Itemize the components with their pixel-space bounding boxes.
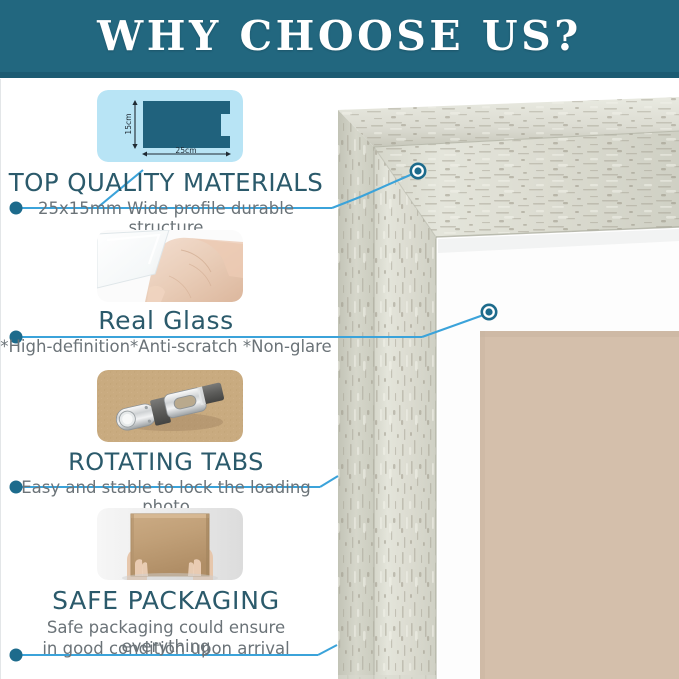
profile-width-label: 25cm (175, 146, 196, 155)
feature-title-2: Real Glass (0, 306, 332, 335)
hands-holding-box-thumbnail (97, 508, 243, 580)
hand-holding-glass-thumbnail (97, 230, 243, 302)
feature-safe-packaging: SAFE PACKAGING Safe packaging could ensu… (0, 508, 332, 653)
feature-top-quality-materials: 15cm 25cm TOP QUALITY MATERIALS 25x15mm … (0, 90, 332, 210)
feature-title-1: TOP QUALITY MATERIALS (0, 168, 332, 197)
feature-rotating-tabs: ROTATING TABS Easy and stable to lock th… (0, 370, 332, 485)
feature-real-glass: Real Glass *High-definition*Anti-scratch… (0, 230, 332, 340)
feature-subtitle-4-line2: in good condition upon arrival (0, 639, 332, 658)
page-title: WHY CHOOSE US? (0, 0, 679, 72)
infographic-page: WHY CHOOSE US? (0, 0, 679, 679)
profile-height-label: 15cm (124, 113, 133, 134)
product-frame-photo (330, 79, 679, 679)
feature-title-4: SAFE PACKAGING (0, 586, 332, 615)
header-banner-underline (0, 72, 679, 78)
metal-turn-tabs-thumbnail (97, 370, 243, 442)
feature-title-3: ROTATING TABS (0, 448, 332, 476)
profile-diagram-thumbnail: 15cm 25cm (97, 90, 243, 162)
feature-subtitle-2: *High-definition*Anti-scratch *Non-glare (0, 337, 332, 356)
